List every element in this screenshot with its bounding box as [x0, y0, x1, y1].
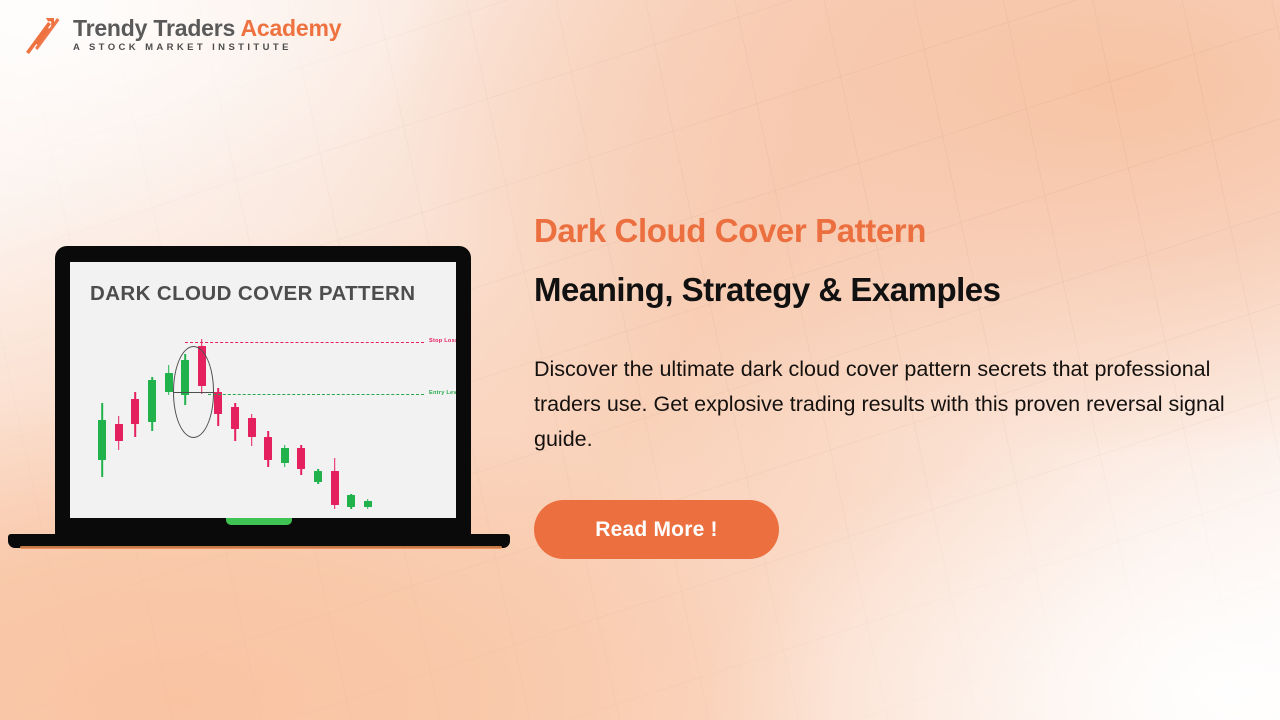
candle-body: [98, 420, 106, 460]
candlestick-arrow-icon: [18, 14, 62, 56]
entry-level-label: Entry Level: [429, 390, 456, 396]
candlestick-13: [297, 320, 305, 518]
candlestick-12: [281, 320, 289, 518]
chart-title: DARK CLOUD COVER PATTERN: [90, 282, 415, 306]
candlestick-11: [264, 320, 272, 518]
candlestick-2: [115, 320, 123, 518]
stop-loss-line: [185, 342, 424, 343]
candle-body: [115, 424, 123, 441]
hero-eyebrow: Dark Cloud Cover Pattern: [534, 212, 1244, 250]
candle-body: [214, 392, 222, 415]
hero-content: Dark Cloud Cover Pattern Meaning, Strate…: [534, 212, 1244, 559]
candlestick-17: [364, 320, 372, 518]
candle-body: [347, 495, 355, 506]
pattern-midline: [173, 392, 214, 393]
laptop-trackpad: [226, 518, 292, 525]
candlestick-8: [214, 320, 222, 518]
laptop-base-shadow: [20, 546, 502, 549]
candle-body: [281, 448, 289, 463]
candlestick-10: [248, 320, 256, 518]
candlestick-16: [347, 320, 355, 518]
entry-level-line: [208, 394, 424, 395]
brand-logo[interactable]: Trendy Traders Academy A STOCK MARKET IN…: [18, 14, 341, 56]
candle-body: [314, 471, 322, 482]
candle-body: [248, 418, 256, 437]
candle-body: [264, 437, 272, 460]
brand-name-part2: Academy: [240, 15, 341, 41]
candle-body: [297, 448, 305, 469]
candle-body: [148, 380, 156, 422]
stop-loss-label: Stop Loss: [429, 338, 456, 344]
laptop-screen: DARK CLOUD COVER PATTERN Stop LossEntry …: [70, 262, 456, 518]
candlestick-chart: Stop LossEntry Level: [70, 320, 456, 518]
brand-name: Trendy Traders Academy: [73, 17, 341, 40]
hero-description: Discover the ultimate dark cloud cover p…: [534, 352, 1234, 456]
candlestick-4: [148, 320, 156, 518]
candle-body: [231, 407, 239, 430]
candlestick-9: [231, 320, 239, 518]
page-title: Meaning, Strategy & Examples: [534, 271, 1244, 309]
candle-body: [165, 373, 173, 392]
candlestick-1: [98, 320, 106, 518]
candle-body: [331, 471, 339, 505]
candlestick-5: [165, 320, 173, 518]
read-more-button[interactable]: Read More !: [534, 500, 779, 559]
candlestick-14: [314, 320, 322, 518]
laptop-mockup: DARK CLOUD COVER PATTERN Stop LossEntry …: [8, 246, 510, 536]
brand-name-part1: Trendy Traders: [73, 15, 240, 41]
brand-logo-text: Trendy Traders Academy A STOCK MARKET IN…: [73, 17, 341, 53]
brand-tagline: A STOCK MARKET INSTITUTE: [73, 43, 341, 53]
candlestick-3: [131, 320, 139, 518]
laptop-lid: DARK CLOUD COVER PATTERN Stop LossEntry …: [55, 246, 471, 518]
candle-body: [364, 501, 372, 507]
candle-body: [131, 399, 139, 424]
candlestick-15: [331, 320, 339, 518]
